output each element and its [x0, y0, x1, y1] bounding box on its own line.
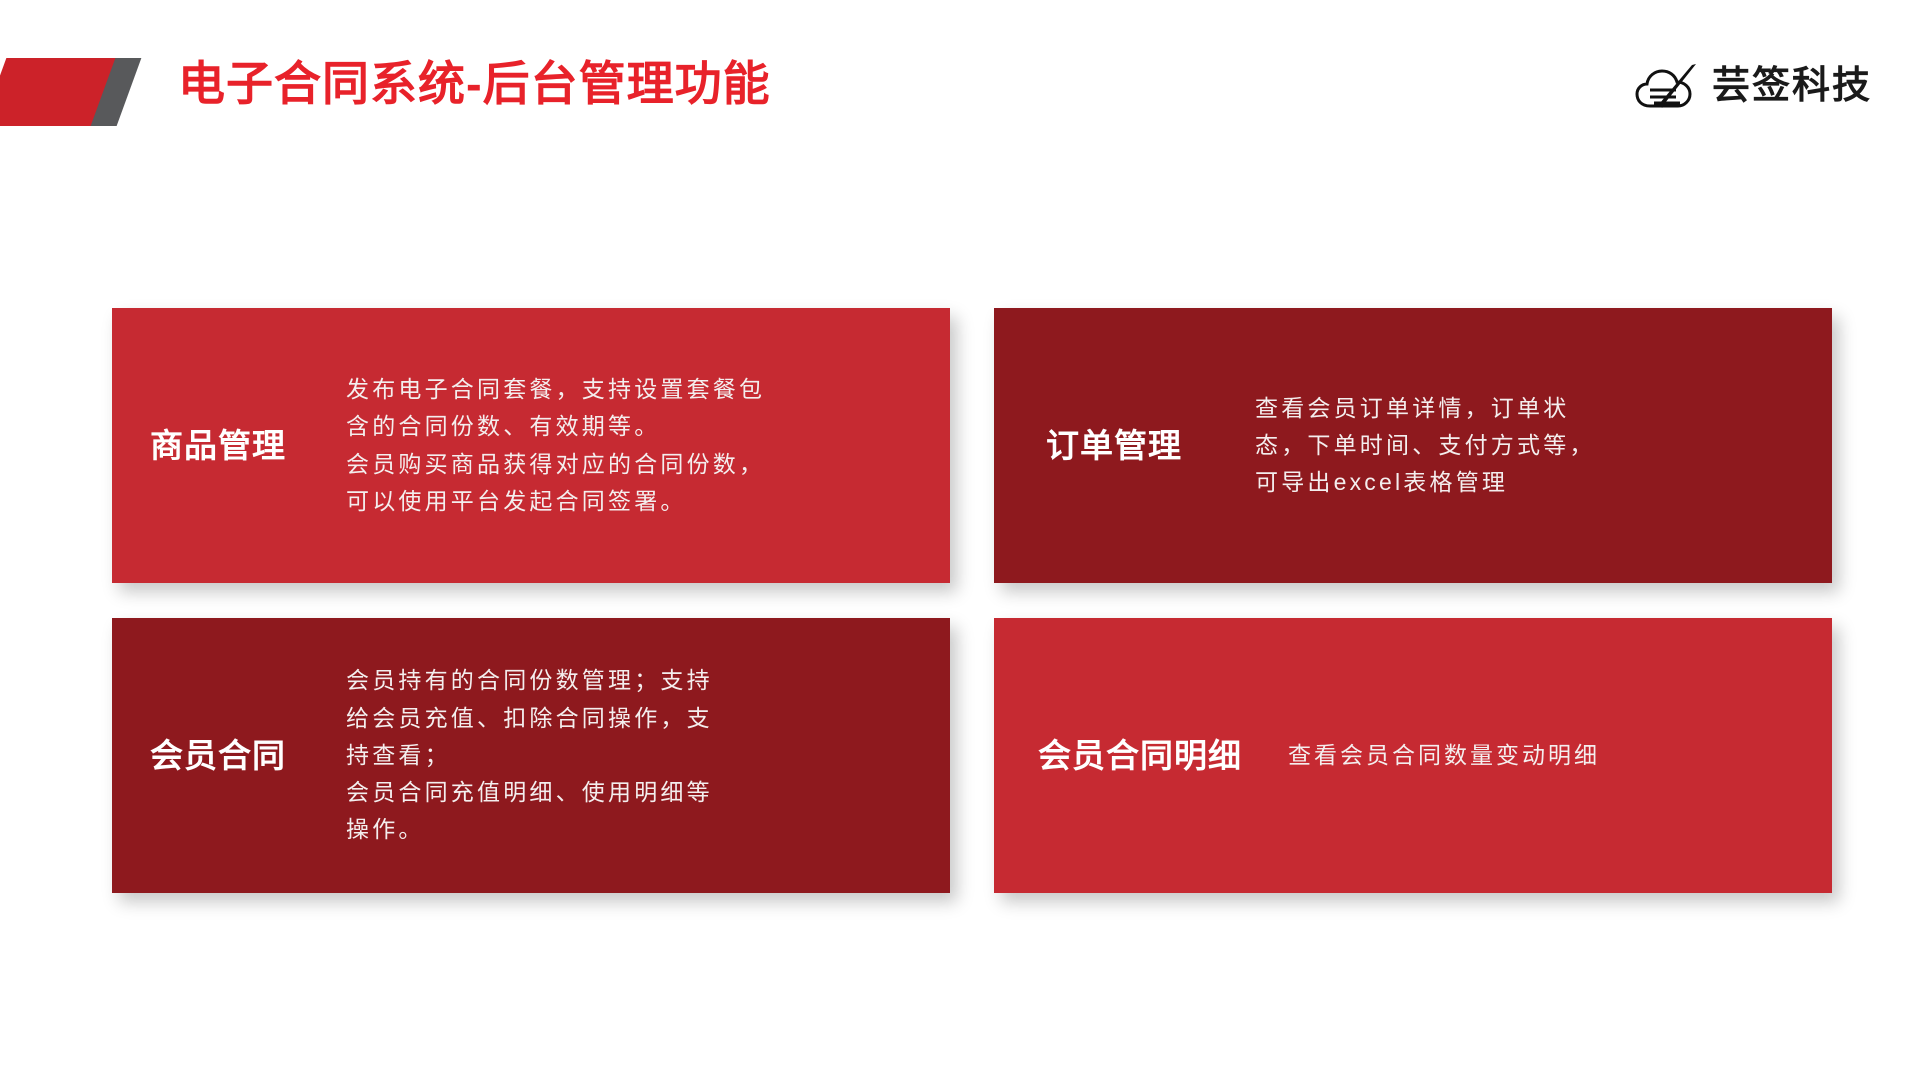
card-title: 订单管理: [1020, 425, 1200, 466]
feature-card-product-management[interactable]: 商品管理 发布电子合同套餐，支持设置套餐包 含的合同份数、有效期等。 会员购买商…: [112, 308, 950, 583]
brand-logo: 芸签科技: [1634, 62, 1872, 110]
slide-root: 电子合同系统-后台管理功能 芸签科技 商品管理 发布电子合同套餐，支持设置套餐包: [0, 0, 1920, 1080]
card-body-line: 发布电子合同套餐，支持设置套餐包: [346, 371, 926, 408]
card-body-line: 可以使用平台发起合同签署。: [346, 483, 926, 520]
feature-card-member-contract[interactable]: 会员合同 会员持有的合同份数管理；支持 给会员充值、扣除合同操作，支 持查看； …: [112, 618, 950, 893]
card-body-line: 含的合同份数、有效期等。: [346, 408, 926, 445]
card-title: 商品管理: [138, 425, 304, 466]
feature-card-member-contract-detail[interactable]: 会员合同明细 查看会员合同数量变动明细: [994, 618, 1832, 893]
brand-name: 芸签科技: [1712, 67, 1872, 105]
feature-card-order-management[interactable]: 订单管理 查看会员订单详情，订单状 态，下单时间、支付方式等， 可导出excel…: [994, 308, 1832, 583]
card-body: 会员持有的合同份数管理；支持 给会员充值、扣除合同操作，支 持查看； 会员合同充…: [304, 662, 950, 848]
card-title: 会员合同: [138, 735, 304, 776]
card-body: 发布电子合同套餐，支持设置套餐包 含的合同份数、有效期等。 会员购买商品获得对应…: [304, 371, 950, 520]
card-title: 会员合同明细: [1020, 735, 1260, 776]
feature-card-grid: 商品管理 发布电子合同套餐，支持设置套餐包 含的合同份数、有效期等。 会员购买商…: [112, 308, 1832, 898]
card-body-line: 持查看；: [346, 737, 926, 774]
card-body: 查看会员合同数量变动明细: [1260, 737, 1832, 774]
card-body-line: 态，下单时间、支付方式等，: [1255, 427, 1808, 464]
card-body-line: 会员持有的合同份数管理；支持: [346, 662, 926, 699]
card-body-line: 查看会员合同数量变动明细: [1288, 737, 1808, 774]
cloud-pen-icon: [1634, 62, 1702, 110]
card-body-line: 会员购买商品获得对应的合同份数，: [346, 446, 926, 483]
card-body-line: 会员合同充值明细、使用明细等: [346, 774, 926, 811]
page-title: 电子合同系统-后台管理功能: [178, 56, 771, 112]
card-body-line: 操作。: [346, 811, 926, 848]
card-body: 查看会员订单详情，订单状 态，下单时间、支付方式等， 可导出excel表格管理: [1200, 390, 1832, 502]
slide-header: 电子合同系统-后台管理功能 芸签科技: [0, 0, 1920, 170]
card-body-line: 给会员充值、扣除合同操作，支: [346, 700, 926, 737]
card-body-line: 可导出excel表格管理: [1255, 464, 1808, 501]
card-body-line: 查看会员订单详情，订单状: [1255, 390, 1808, 427]
